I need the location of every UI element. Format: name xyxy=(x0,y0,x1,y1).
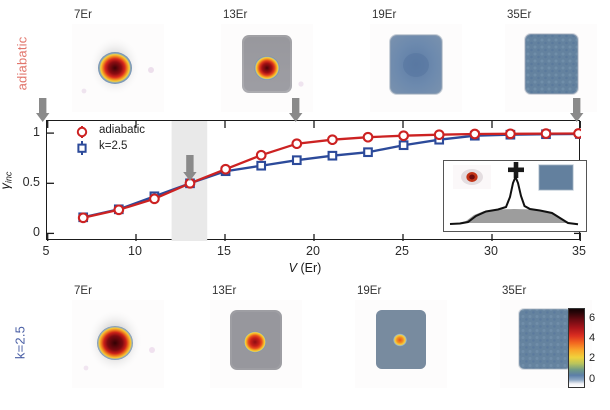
x-tick-label-25: 25 xyxy=(383,244,421,258)
y-tick-label-1: 1 xyxy=(12,125,40,139)
legend-label-adiabatic: adiabatic xyxy=(99,124,145,136)
external-arrows xyxy=(0,98,610,124)
x-tick-label-5: 5 xyxy=(27,244,65,258)
panel-caption: 35Er xyxy=(507,9,531,21)
absorption-image xyxy=(210,300,302,388)
inset-thumb-broad xyxy=(539,165,573,190)
y-tick-label-0: 0 xyxy=(12,225,40,239)
legend-label-k25: k=2.5 xyxy=(99,140,127,152)
colorbar-tick-2: 2 xyxy=(589,352,595,364)
panel-caption: 7Er xyxy=(74,9,92,21)
panel-caption: 19Er xyxy=(357,285,381,297)
main-plot-axes: adiabatic k=2.5 xyxy=(46,120,580,240)
x-tick-label-20: 20 xyxy=(294,244,332,258)
panel-k25-19Er: 19Er xyxy=(355,300,447,388)
legend-marker-circle xyxy=(69,125,95,139)
bimodal-profile-inset xyxy=(443,160,587,232)
panel-caption: 13Er xyxy=(212,285,236,297)
colorbar-tick-4: 4 xyxy=(589,332,595,344)
arrow-7Er-top xyxy=(36,98,49,122)
panel-caption: 19Er xyxy=(372,9,396,21)
panel-caption: 7Er xyxy=(74,285,92,297)
panel-k25-13Er: 13Er xyxy=(210,300,302,388)
absorption-image xyxy=(72,300,164,388)
absorption-image xyxy=(355,300,447,388)
x-axis-label: V (Er) xyxy=(0,261,610,275)
y-axis-label: γinc xyxy=(0,160,14,202)
figure-root: adiabatic 7Er xyxy=(0,0,610,410)
panel-caption: 13Er xyxy=(223,9,247,21)
arrow-35Er-top xyxy=(570,98,583,122)
panel-k25-7Er: 7Er xyxy=(72,300,164,388)
panel-caption: 35Er xyxy=(502,285,526,297)
row-label-adiabatic: adiabatic xyxy=(15,33,30,95)
x-tick-label-15: 15 xyxy=(205,244,243,258)
legend-marker-square xyxy=(69,141,95,155)
x-tick-label-30: 30 xyxy=(472,244,510,258)
row-label-k25: k=2.5 xyxy=(13,312,28,374)
colorbar-tick-0: 0 xyxy=(589,373,595,385)
inset-canvas xyxy=(444,161,586,231)
arrow-19Er-top xyxy=(289,98,302,122)
colorbar-tick-6: 6 xyxy=(589,312,595,324)
inset-thumb-narrow xyxy=(453,165,491,189)
optical-density-colorbar xyxy=(568,308,585,388)
x-tick-label-10: 10 xyxy=(116,244,154,258)
x-tick-label-35: 35 xyxy=(560,244,598,258)
y-tick-label-0p5: 0.5 xyxy=(12,175,40,189)
